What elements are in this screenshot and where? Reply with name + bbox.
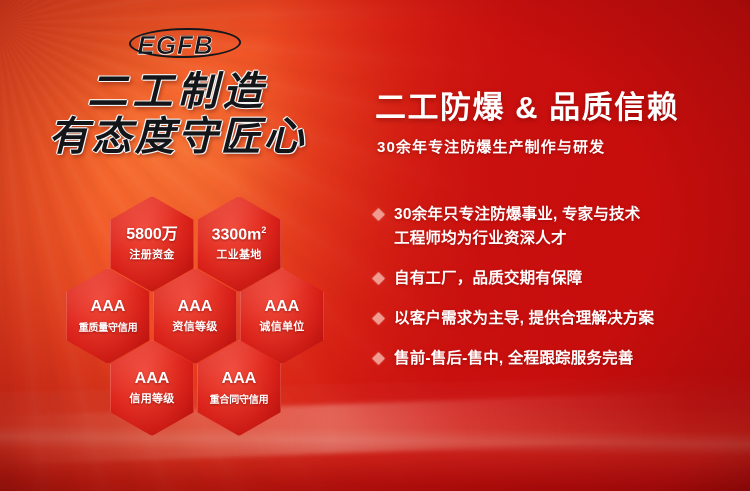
diamond-bullet-icon [372,272,385,285]
bullet-text-line-1: 以客户需求为主导, 提供合理解决方案 [394,310,654,327]
badge-value: AAA [91,298,126,316]
bullet-text-line-1: 自有工厂，品质交期有保障 [394,270,582,287]
badge-value: AAA [135,370,170,388]
badge-value: AAA [222,370,257,388]
brand-block: EGFB 二工制造 有态度守匠心 [0,30,355,160]
badge-label: 重合同守信用 [210,391,269,406]
bullet-service: 售前-售后-售中, 全程跟踪服务完善 [370,347,750,371]
badge-label: 诚信单位 [259,318,304,334]
diamond-bullet-icon [372,352,385,365]
right-panel: 二工防爆 & 品质信赖 30余年专注防爆生产制作与研发 30余年只专注防爆事业,… [370,0,750,491]
badge-value: 5800万 [126,226,178,244]
badge-label: 注册资金 [129,246,174,262]
bullet-text-line-1: 售前-售后-售中, 全程跟踪服务完善 [394,350,634,367]
badge-superscript: 2 [261,225,266,235]
diamond-bullet-icon [372,208,385,221]
bullet-solution: 以客户需求为主导, 提供合理解决方案 [370,307,750,331]
bullet-factory: 自有工厂，品质交期有保障 [370,267,750,291]
bullet-text-line-2: 工程师均为行业资深人才 [394,227,750,251]
promo-banner: EGFB 二工制造 有态度守匠心 5800万注册资金3300m2工业基地AAA重… [0,0,750,491]
badge-value: AAA [265,298,300,316]
badge-value: AAA [178,298,213,316]
badge-label: 资信等级 [172,318,217,334]
page-subtitle: 30余年专注防爆生产制作与研发 [377,140,605,155]
badge-label: 工业基地 [216,246,261,262]
logo-text: EGFB [137,30,213,60]
egfb-logo: EGFB [125,30,229,61]
left-panel: EGFB 二工制造 有态度守匠心 5800万注册资金3300m2工业基地AAA重… [0,0,355,491]
calligraphy-line-2: 有态度守匠心 [0,115,355,160]
honeycomb-badges: 5800万注册资金3300m2工业基地AAA重质量守信用AAA资信等级AAA诚信… [66,196,316,408]
bullet-text-line-1: 30余年只专注防爆事业, 专家与技术 [394,206,640,223]
feature-list: 30余年只专注防爆事业, 专家与技术工程师均为行业资深人才自有工厂，品质交期有保… [370,203,750,371]
bullet-expertise: 30余年只专注防爆事业, 专家与技术工程师均为行业资深人才 [370,203,750,251]
badge-value: 3300m2 [212,226,267,244]
badge-label: 重质量守信用 [79,319,138,334]
page-title: 二工防爆 & 品质信赖 [375,92,679,123]
diamond-bullet-icon [372,312,385,325]
calligraphy-line-1: 二工制造 [0,71,355,113]
badge-label: 信用等级 [129,390,174,406]
